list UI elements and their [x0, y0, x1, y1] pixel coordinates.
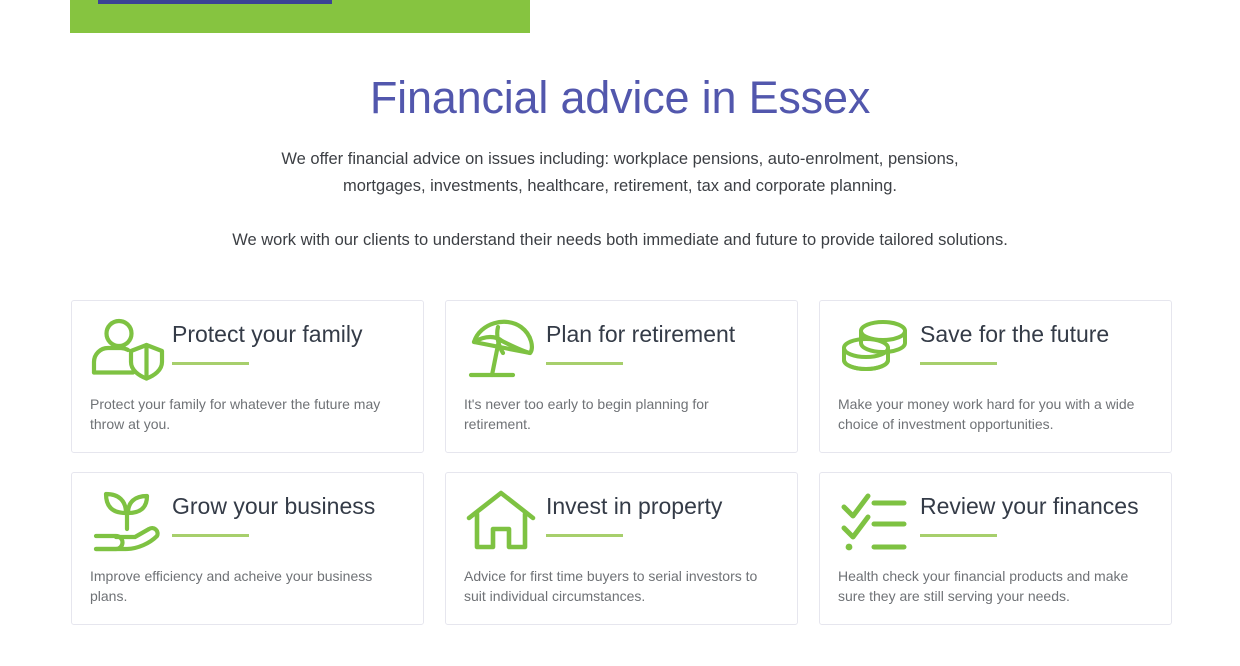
- checklist-icon: [838, 487, 916, 553]
- top-banner-region: [0, 0, 1240, 33]
- card-header: Protect your family: [90, 315, 405, 381]
- card-review-your-finances[interactable]: Review your finances Health check your f…: [819, 472, 1172, 625]
- card-header: Invest in property: [464, 487, 779, 553]
- card-heading-block: Save for the future: [920, 315, 1153, 365]
- card-header: Grow your business: [90, 487, 405, 553]
- card-header: Plan for retirement: [464, 315, 779, 381]
- card-title: Plan for retirement: [546, 321, 779, 349]
- card-description: Improve efficiency and acheive your busi…: [90, 567, 405, 606]
- title-underline-rule: [920, 534, 997, 537]
- card-grow-your-business[interactable]: Grow your business Improve efficiency an…: [71, 472, 424, 625]
- card-heading-block: Grow your business: [172, 487, 405, 537]
- page-title: Financial advice in Essex: [0, 71, 1240, 124]
- green-banner: [70, 0, 530, 33]
- card-title: Review your finances: [920, 493, 1153, 521]
- house-icon: [464, 487, 542, 553]
- title-underline-rule: [172, 534, 249, 537]
- person-shield-icon: [90, 315, 168, 381]
- card-heading-block: Plan for retirement: [546, 315, 779, 365]
- hero-section: Financial advice in Essex We offer finan…: [0, 33, 1240, 254]
- title-underline-rule: [920, 362, 997, 365]
- card-protect-your-family[interactable]: Protect your family Protect your family …: [71, 300, 424, 453]
- sprout-in-hand-icon: [90, 487, 168, 553]
- card-title: Save for the future: [920, 321, 1153, 349]
- card-description: Advice for first time buyers to serial i…: [464, 567, 779, 606]
- service-card-grid: Protect your family Protect your family …: [71, 300, 1169, 625]
- intro-paragraph-1: We offer financial advice on issues incl…: [240, 146, 1000, 200]
- beach-umbrella-icon: [464, 315, 542, 381]
- card-title: Grow your business: [172, 493, 405, 521]
- card-header: Save for the future: [838, 315, 1153, 381]
- card-heading-block: Review your finances: [920, 487, 1153, 537]
- title-underline-rule: [546, 534, 623, 537]
- card-description: It's never too early to begin planning f…: [464, 395, 779, 434]
- coin-stack-icon: [838, 315, 916, 381]
- card-description: Health check your financial products and…: [838, 567, 1153, 606]
- intro-paragraph-2: We work with our clients to understand t…: [140, 227, 1100, 254]
- card-description: Make your money work hard for you with a…: [838, 395, 1153, 434]
- card-save-for-the-future[interactable]: Save for the future Make your money work…: [819, 300, 1172, 453]
- card-heading-block: Invest in property: [546, 487, 779, 537]
- card-header: Review your finances: [838, 487, 1153, 553]
- card-heading-block: Protect your family: [172, 315, 405, 365]
- blue-accent-bar: [98, 0, 332, 4]
- card-title: Invest in property: [546, 493, 779, 521]
- card-invest-in-property[interactable]: Invest in property Advice for first time…: [445, 472, 798, 625]
- card-title: Protect your family: [172, 321, 405, 349]
- card-description: Protect your family for whatever the fut…: [90, 395, 405, 434]
- card-plan-for-retirement[interactable]: Plan for retirement It's never too early…: [445, 300, 798, 453]
- title-underline-rule: [172, 362, 249, 365]
- title-underline-rule: [546, 362, 623, 365]
